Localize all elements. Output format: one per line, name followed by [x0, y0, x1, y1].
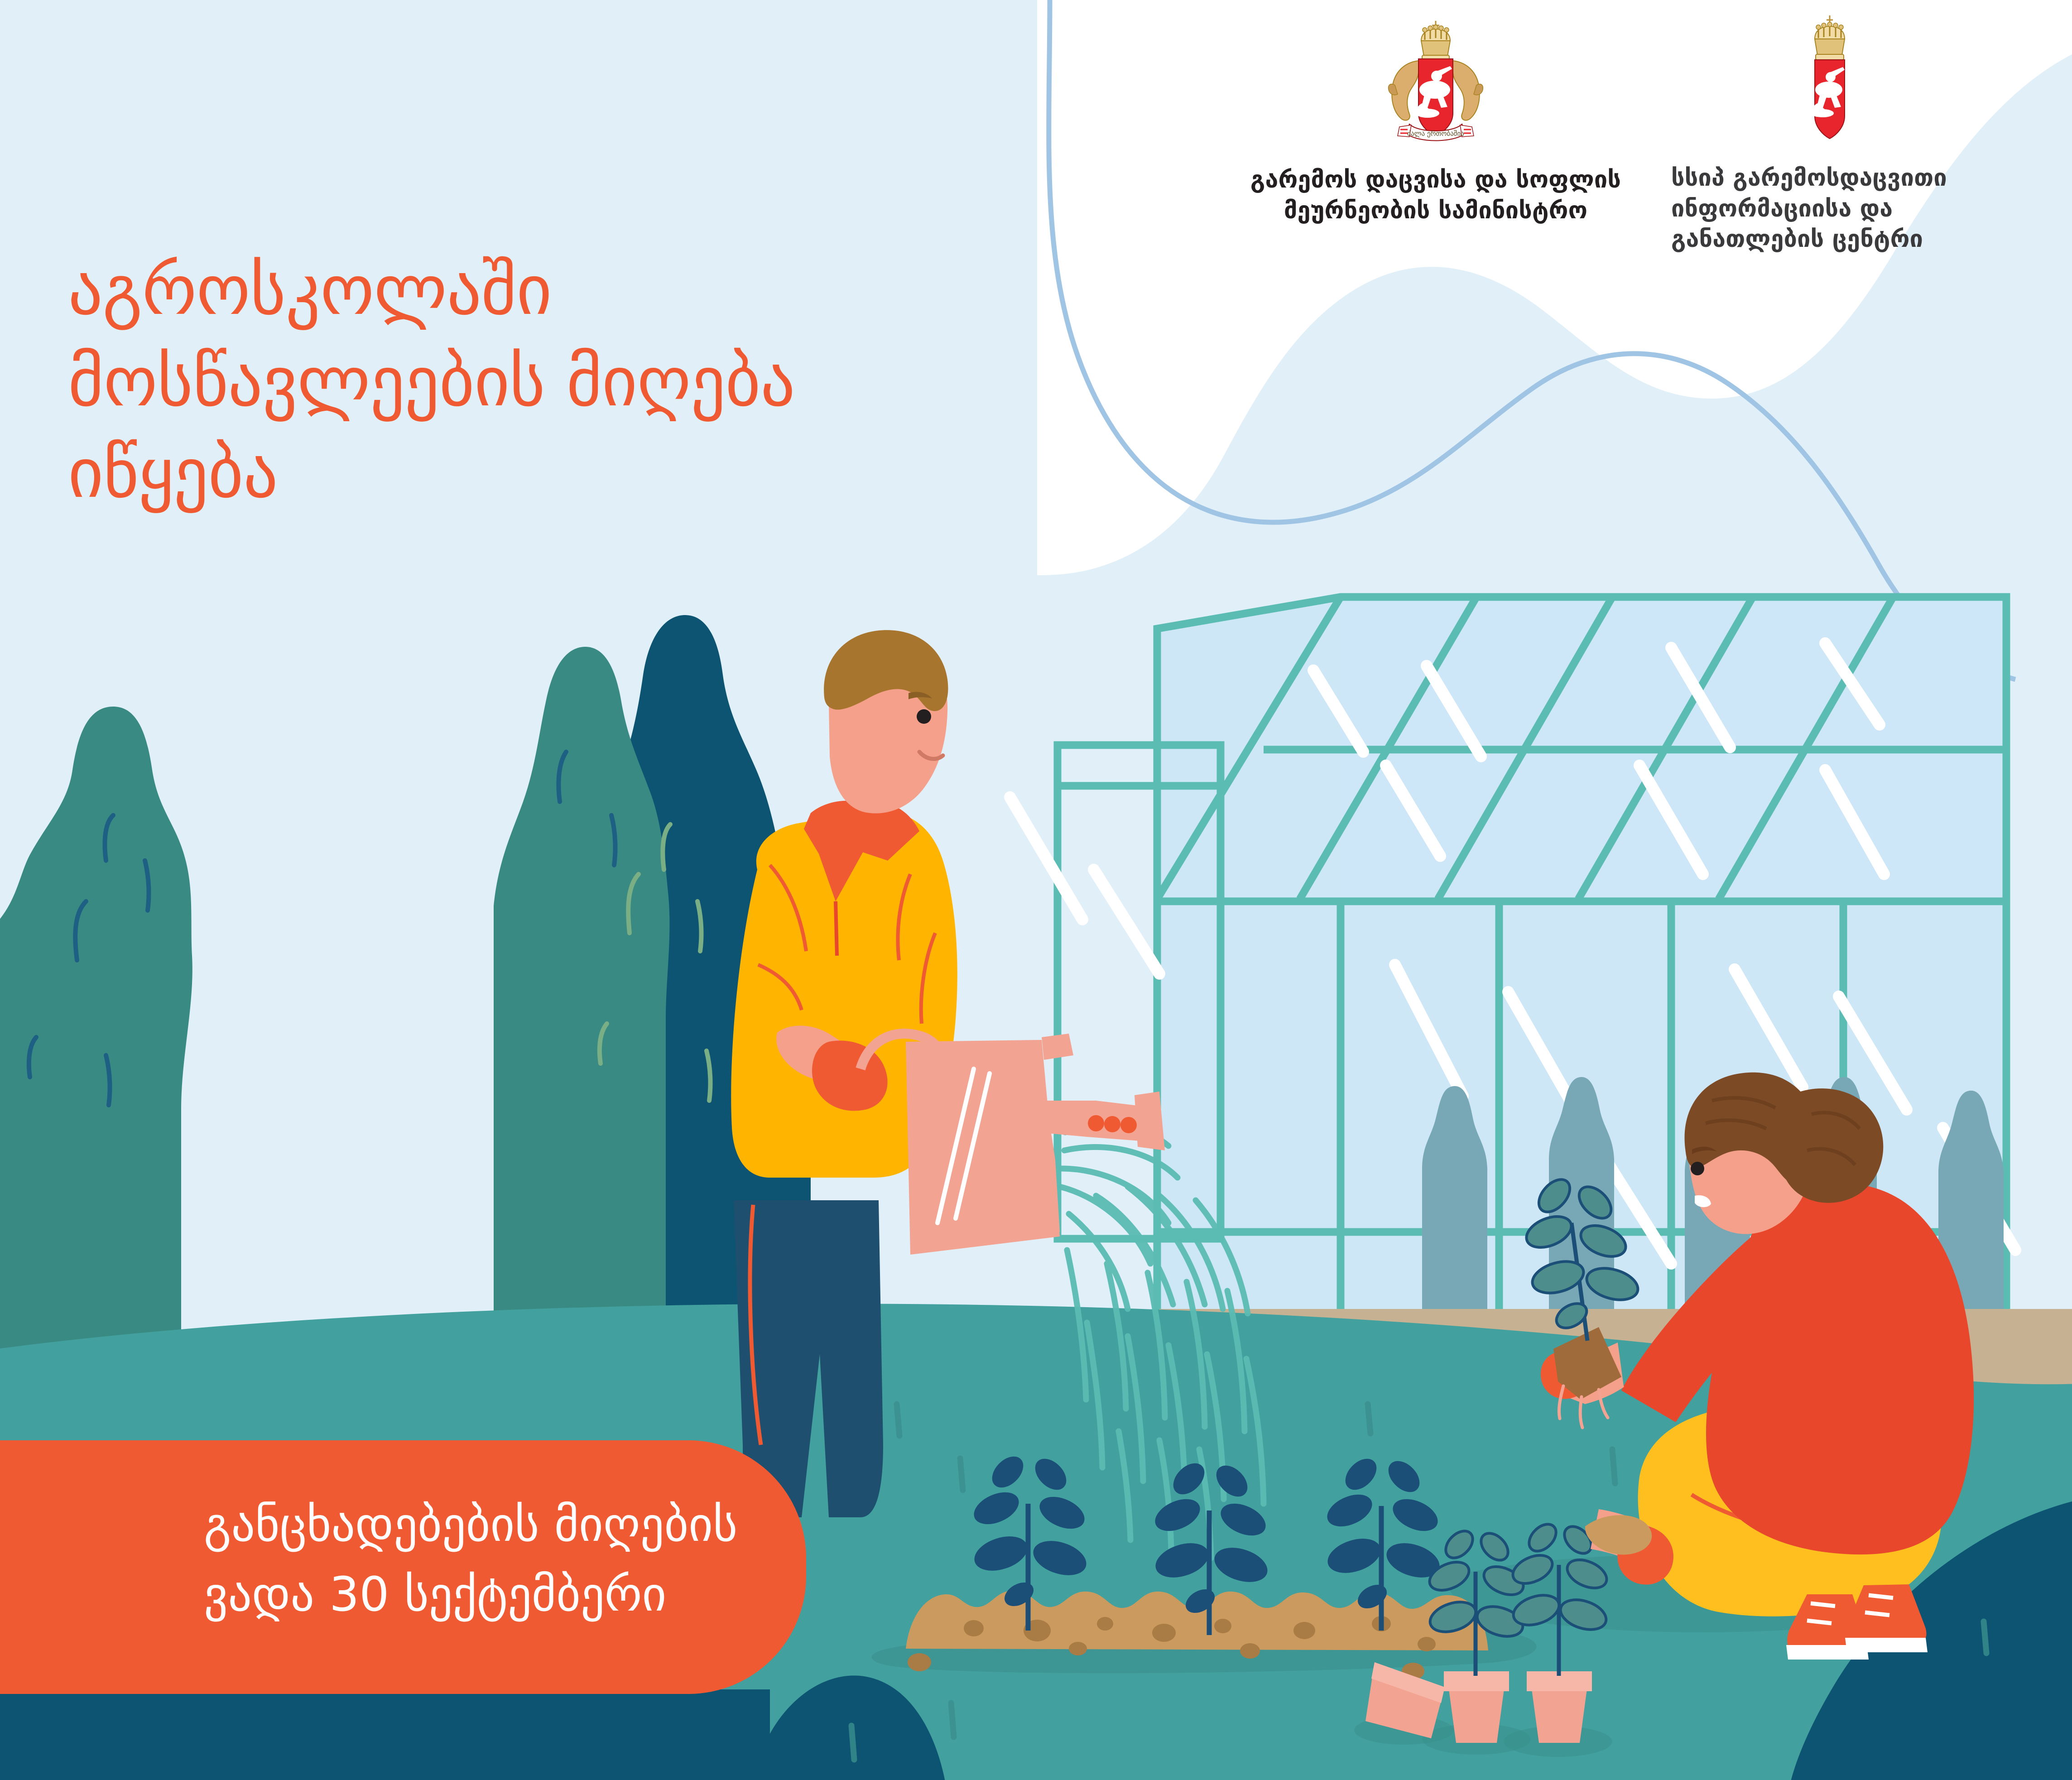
logo-center: სსიპ გარემოსდაცვითი ინფორმაციისა და განა… [1671, 14, 1988, 255]
georgia-shield-crown-icon [1787, 14, 1873, 149]
georgia-coat-of-arms-icon: ძალა ერთობაშია [1368, 17, 1504, 153]
can-top-spout [1042, 1034, 1073, 1060]
svg-text:ძალა ერთობაშია: ძალა ერთობაშია [1407, 130, 1464, 138]
woman-eye [1691, 1162, 1704, 1175]
can-body2 [906, 1040, 1060, 1255]
man-zipper [836, 901, 837, 956]
page-title: აგროსკოლაში მოსწავლეების მიღება იწყება [68, 245, 1291, 519]
can-nozzle-holes [1088, 1115, 1137, 1133]
man-eye [917, 709, 931, 724]
logo-ministry-caption: გარემოს დაცვისა და სოფლის მეურნეობის სამ… [1250, 165, 1621, 226]
poster-root: ძალა ერთობაშია გარემოს დაცვისა და სოფლის… [0, 0, 2072, 1780]
logo-center-caption: სსიპ გარემოსდაცვითი ინფორმაციისა და განა… [1671, 163, 1988, 255]
deadline-banner-text: განცხადებების მიღების ვადა 30 სექტემბერი [204, 1490, 838, 1630]
logo-ministry: ძალა ერთობაშია გარემოს დაცვისა და სოფლის… [1250, 17, 1621, 226]
